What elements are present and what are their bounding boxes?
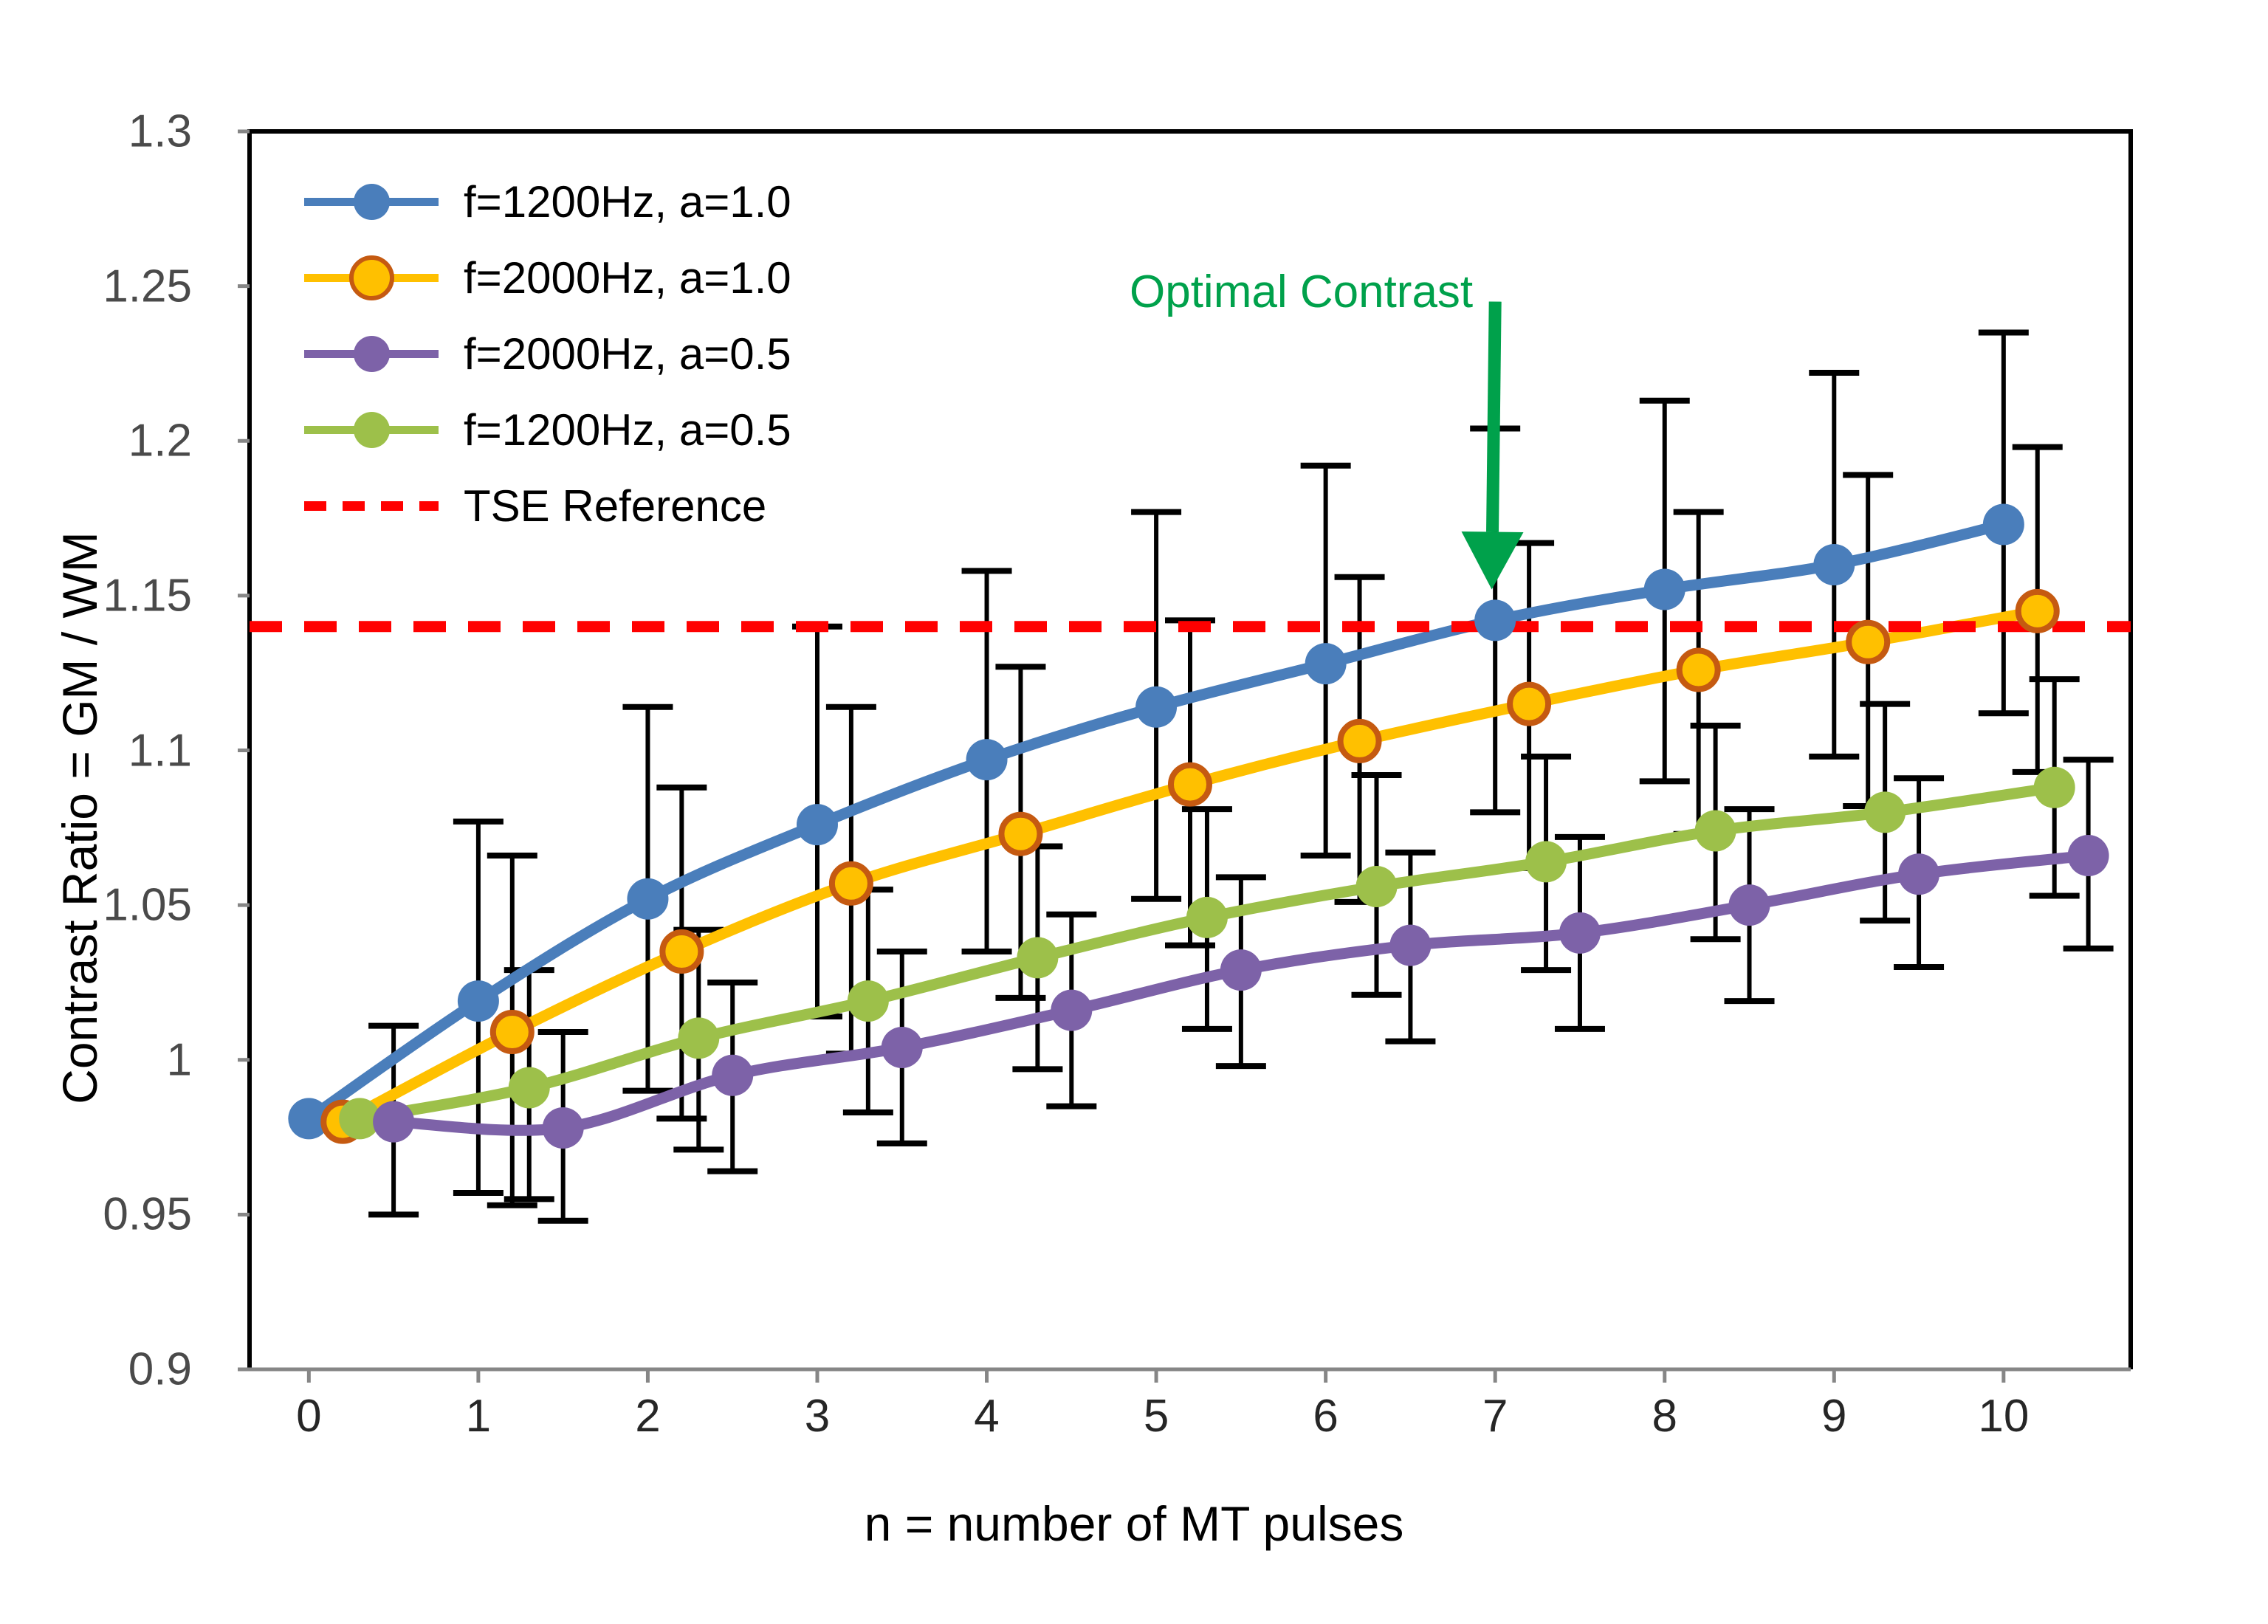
y-tick-label: 1 (0, 1033, 192, 1086)
y-tick-label: 1.3 (0, 106, 192, 158)
legend-item[interactable]: f=2000Hz, a=0.5 (304, 316, 791, 392)
y-tick-label: 1.1 (0, 724, 192, 777)
marker-dot-icon (349, 255, 394, 300)
legend-marker-icon (304, 408, 439, 453)
x-axis-title: n = number of MT pulses (0, 1496, 2268, 1552)
annotation-optimal-contrast: Optimal Contrast (1130, 266, 1473, 318)
y-tick-label: 0.95 (0, 1188, 192, 1241)
x-tick-label: 7 (1421, 1390, 1569, 1442)
x-tick-label: 10 (1930, 1390, 2078, 1442)
legend-item-label: f=2000Hz, a=0.5 (464, 328, 791, 379)
marker-dot-icon (354, 412, 390, 448)
x-tick-label: 6 (1252, 1390, 1400, 1442)
legend: f=1200Hz, a=1.0f=2000Hz, a=1.0f=2000Hz, … (304, 164, 791, 544)
legend-item[interactable]: TSE Reference (304, 468, 791, 544)
x-tick-label: 4 (913, 1390, 1061, 1442)
legend-marker-icon (304, 180, 439, 224)
legend-item[interactable]: f=1200Hz, a=1.0 (304, 164, 791, 240)
x-tick-label: 8 (1591, 1390, 1739, 1442)
x-tick-label: 1 (405, 1390, 552, 1442)
legend-item-label: TSE Reference (464, 481, 766, 531)
dashed-line-icon (304, 501, 439, 511)
x-tick-label: 3 (743, 1390, 891, 1442)
y-axis-tick-labels: 0.90.9511.051.11.151.21.251.3 (0, 0, 192, 1624)
legend-marker-icon (304, 256, 439, 300)
marker-dot-icon (354, 184, 390, 220)
legend-item-label: f=1200Hz, a=1.0 (464, 176, 791, 227)
chart-root: Contrast Ratio = GM / WM n = number of M… (0, 0, 2268, 1624)
legend-marker-icon (304, 484, 439, 529)
marker-dot-icon (354, 336, 390, 372)
x-tick-label: 9 (1760, 1390, 1908, 1442)
x-tick-label: 2 (574, 1390, 721, 1442)
x-tick-label: 5 (1082, 1390, 1230, 1442)
y-tick-label: 1.2 (0, 415, 192, 467)
legend-item-label: f=2000Hz, a=1.0 (464, 252, 791, 303)
y-tick-label: 1.25 (0, 260, 192, 312)
y-tick-label: 0.9 (0, 1343, 192, 1396)
y-tick-label: 1.15 (0, 569, 192, 622)
legend-marker-icon (304, 332, 439, 376)
x-tick-label: 0 (235, 1390, 382, 1442)
legend-item[interactable]: f=1200Hz, a=0.5 (304, 392, 791, 468)
legend-item-label: f=1200Hz, a=0.5 (464, 405, 791, 455)
legend-item[interactable]: f=2000Hz, a=1.0 (304, 240, 791, 316)
y-tick-label: 1.05 (0, 879, 192, 932)
